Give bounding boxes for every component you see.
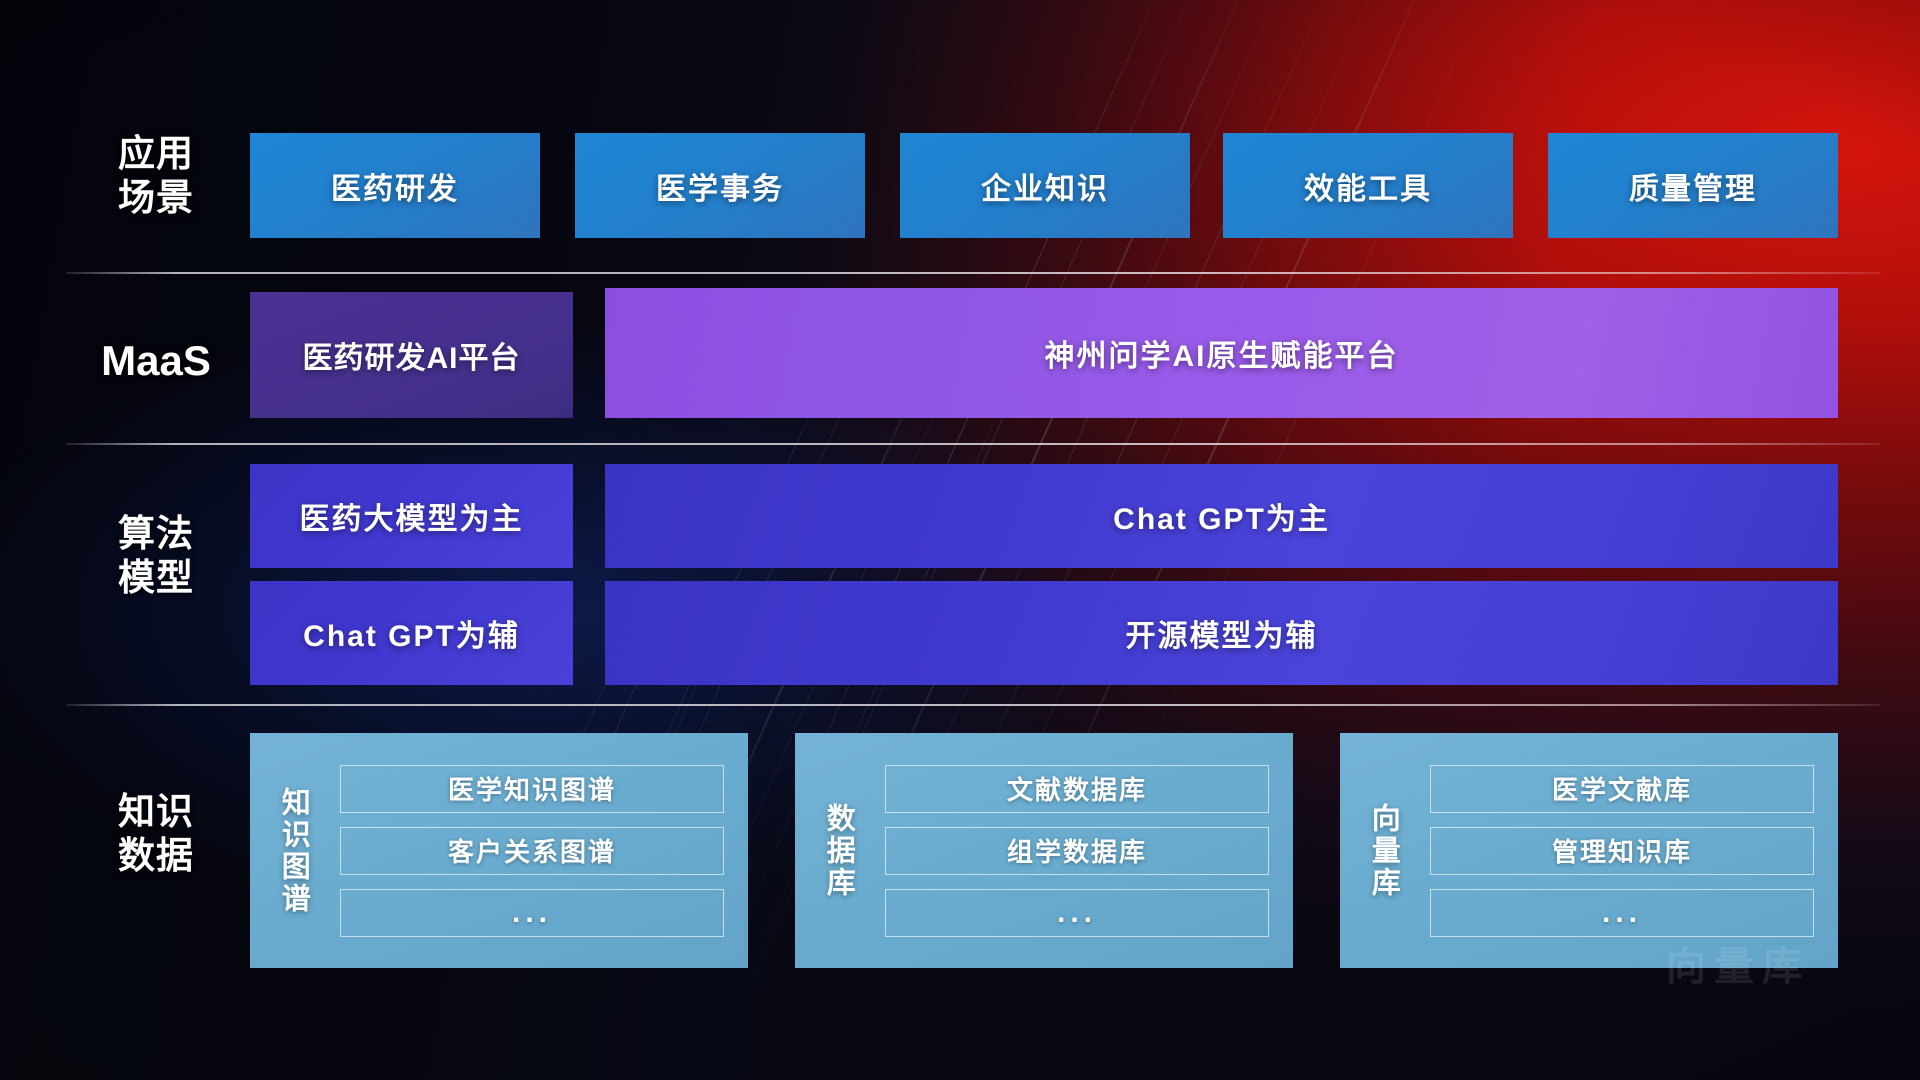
row-label-line: 知识 <box>66 790 246 834</box>
row-label-line: 应用 <box>66 132 246 176</box>
model-box-chatgpt-primary[interactable]: Chat GPT为主 <box>605 464 1838 568</box>
knowledge-chip-medical-literature-store[interactable]: 医学文献库 <box>1430 765 1814 813</box>
model-box-opensource-secondary[interactable]: 开源模型为辅 <box>605 581 1838 685</box>
scenario-box-enterprise-knowledge[interactable]: 企业知识 <box>900 133 1190 238</box>
row-separator-3 <box>66 704 1880 706</box>
row-separator-1 <box>66 272 1880 274</box>
row-label-application-scenarios: 应用 场景 <box>66 132 246 219</box>
knowledge-chip-management-knowledge-store[interactable]: 管理知识库 <box>1430 827 1814 875</box>
row-label-line: MaaS <box>66 336 246 386</box>
knowledge-group-knowledge-graph[interactable]: 知识图谱 医学知识图谱 客户关系图谱 ... <box>250 733 748 968</box>
row-label-line: 模型 <box>66 556 246 600</box>
row-label-line: 算法 <box>66 512 246 556</box>
knowledge-group-items: 医学知识图谱 客户关系图谱 ... <box>336 733 748 968</box>
knowledge-chip-medical-knowledge-graph[interactable]: 医学知识图谱 <box>340 765 724 813</box>
knowledge-chip-customer-relation-graph[interactable]: 客户关系图谱 <box>340 827 724 875</box>
row-label-line: 数据 <box>66 834 246 878</box>
knowledge-group-title: 知识图谱 <box>250 733 336 968</box>
knowledge-group-items: 文献数据库 组学数据库 ... <box>881 733 1293 968</box>
model-box-chatgpt-secondary[interactable]: Chat GPT为辅 <box>250 581 573 685</box>
row-label-line: 场景 <box>66 176 246 220</box>
knowledge-chip-more[interactable]: ... <box>1430 889 1814 937</box>
row-label-algorithm-model: 算法 模型 <box>66 512 246 599</box>
knowledge-group-title: 向量库 <box>1340 733 1426 968</box>
scenario-box-medical-affairs[interactable]: 医学事务 <box>575 133 865 238</box>
row-separator-2 <box>66 443 1880 445</box>
knowledge-group-vector-store[interactable]: 向量库 医学文献库 管理知识库 ... <box>1340 733 1838 968</box>
knowledge-group-title: 数据库 <box>795 733 881 968</box>
knowledge-group-database[interactable]: 数据库 文献数据库 组学数据库 ... <box>795 733 1293 968</box>
knowledge-group-items: 医学文献库 管理知识库 ... <box>1426 733 1838 968</box>
row-label-maas: MaaS <box>66 336 246 386</box>
model-box-medicine-llm-primary[interactable]: 医药大模型为主 <box>250 464 573 568</box>
scenario-box-efficiency-tools[interactable]: 效能工具 <box>1223 133 1513 238</box>
knowledge-chip-literature-database[interactable]: 文献数据库 <box>885 765 1269 813</box>
knowledge-chip-omics-database[interactable]: 组学数据库 <box>885 827 1269 875</box>
maas-box-shenzhou-wenxue-platform[interactable]: 神州问学AI原生赋能平台 <box>605 288 1838 418</box>
maas-box-medicine-rd-ai-platform[interactable]: 医药研发AI平台 <box>250 292 573 418</box>
row-label-knowledge-data: 知识 数据 <box>66 790 246 877</box>
knowledge-chip-more[interactable]: ... <box>340 889 724 937</box>
knowledge-chip-more[interactable]: ... <box>885 889 1269 937</box>
scenario-box-quality-management[interactable]: 质量管理 <box>1548 133 1838 238</box>
scenario-box-medicine-rd[interactable]: 医药研发 <box>250 133 540 238</box>
